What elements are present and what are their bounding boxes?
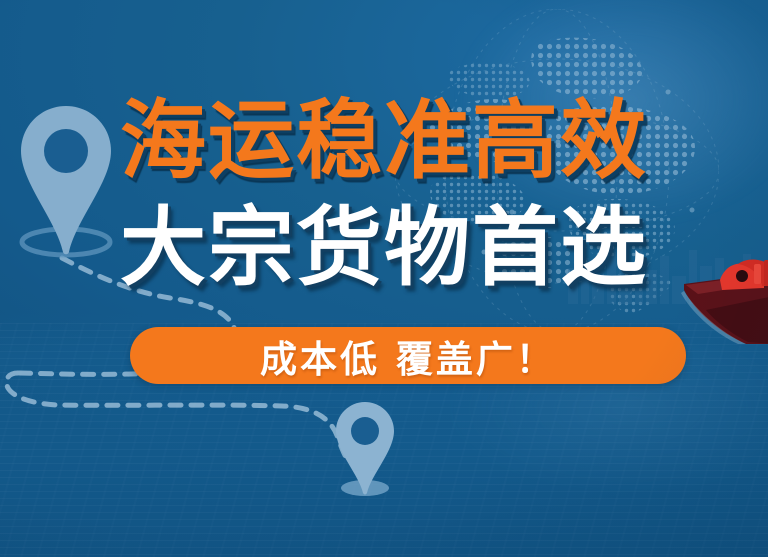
vignette-overlay — [0, 0, 768, 557]
shipping-promo-banner: 海运稳准高效 大宗货物首选 成本低 覆盖广！ — [0, 0, 768, 557]
